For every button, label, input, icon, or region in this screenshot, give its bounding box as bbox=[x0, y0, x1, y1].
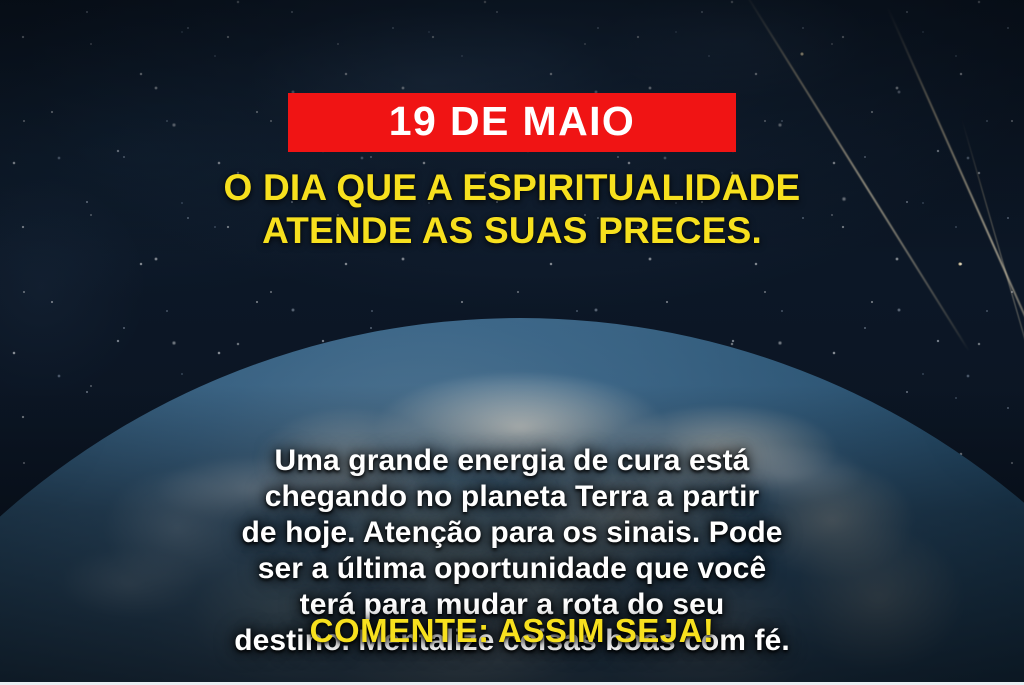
body-copy-line-3: de hoje. Atenção para os sinais. Pode bbox=[56, 515, 968, 551]
body-copy-line-2: chegando no planeta Terra a partir bbox=[56, 479, 968, 515]
body-copy-line-1: Uma grande energia de cura está bbox=[56, 443, 968, 479]
poster-content: 19 DE MAIO O DIA QUE A ESPIRITUALIDADE A… bbox=[0, 0, 1024, 685]
headline-line-2: ATENDE AS SUAS PRECES. bbox=[36, 209, 988, 252]
call-to-action-label: COMENTE: ASSIM SEJA! bbox=[310, 612, 715, 649]
date-banner-label: 19 DE MAIO bbox=[389, 101, 635, 142]
poster-image: 19 DE MAIO O DIA QUE A ESPIRITUALIDADE A… bbox=[0, 0, 1024, 685]
body-copy-line-4: ser a última oportunidade que você bbox=[56, 551, 968, 587]
headline-line-1: O DIA QUE A ESPIRITUALIDADE bbox=[36, 166, 988, 209]
headline: O DIA QUE A ESPIRITUALIDADE ATENDE AS SU… bbox=[0, 166, 1024, 253]
date-banner: 19 DE MAIO bbox=[288, 93, 736, 152]
call-to-action: COMENTE: ASSIM SEJA! bbox=[0, 613, 1024, 649]
